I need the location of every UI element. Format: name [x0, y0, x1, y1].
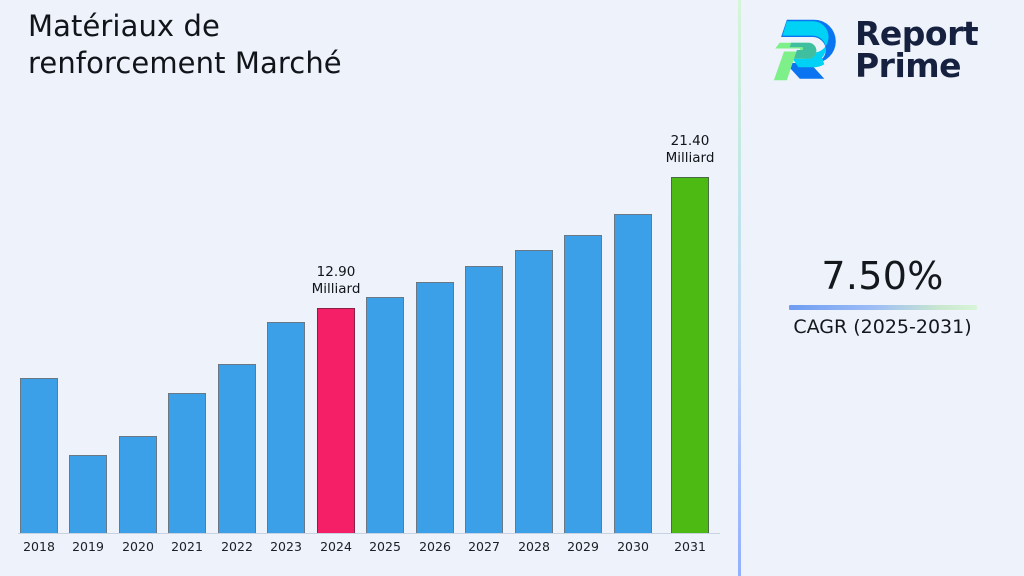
bar-2027	[465, 266, 503, 533]
bar-2019	[69, 455, 107, 533]
x-tick-label-2029: 2029	[556, 539, 610, 554]
bar-value-label-2031: 21.40 Milliard	[630, 133, 750, 166]
cagr-divider-rule	[789, 305, 977, 310]
x-tick-label-2025: 2025	[358, 539, 412, 554]
x-tick-label-2018: 2018	[12, 539, 66, 554]
bar-2024	[317, 308, 355, 533]
bar-2023	[267, 322, 305, 533]
bar-2025	[366, 297, 404, 533]
x-tick-label-2020: 2020	[111, 539, 165, 554]
bar-2022	[218, 364, 256, 533]
bar-2026	[416, 282, 454, 533]
x-tick-label-2023: 2023	[259, 539, 313, 554]
chart-panel: Matériaux de renforcement Marché 2018201…	[0, 0, 738, 576]
bar-2028	[515, 250, 553, 533]
brand-panel: Report Prime 7.50% CAGR (2025-2031)	[741, 0, 1024, 576]
x-tick-label-2024: 2024	[309, 539, 363, 554]
bar-2031	[671, 177, 709, 533]
x-tick-label-2028: 2028	[507, 539, 561, 554]
bar-value-label-2024: 12.90 Milliard	[276, 264, 396, 297]
screenshot-canvas: Matériaux de renforcement Marché 2018201…	[0, 0, 1024, 576]
bar-2029	[564, 235, 602, 533]
bar-chart-plot: 2018201920202021202220232024202520262027…	[0, 0, 738, 576]
brand-wordmark: Report Prime	[855, 18, 978, 81]
cagr-block: 7.50% CAGR (2025-2031)	[741, 255, 1024, 338]
bar-2030	[614, 214, 652, 533]
bar-2021	[168, 393, 206, 533]
x-tick-label-2031: 2031	[663, 539, 717, 554]
x-tick-label-2022: 2022	[210, 539, 264, 554]
bar-2020	[119, 436, 157, 533]
brand-logo: Report Prime	[771, 14, 978, 86]
cagr-value: 7.50%	[741, 255, 1024, 298]
x-tick-label-2030: 2030	[606, 539, 660, 554]
x-tick-label-2019: 2019	[61, 539, 115, 554]
x-tick-label-2021: 2021	[160, 539, 214, 554]
x-tick-label-2026: 2026	[408, 539, 462, 554]
report-prime-logo-icon	[771, 14, 843, 86]
x-axis-line	[18, 533, 720, 534]
x-tick-label-2027: 2027	[457, 539, 511, 554]
bar-2018	[20, 378, 58, 533]
cagr-caption: CAGR (2025-2031)	[741, 316, 1024, 339]
